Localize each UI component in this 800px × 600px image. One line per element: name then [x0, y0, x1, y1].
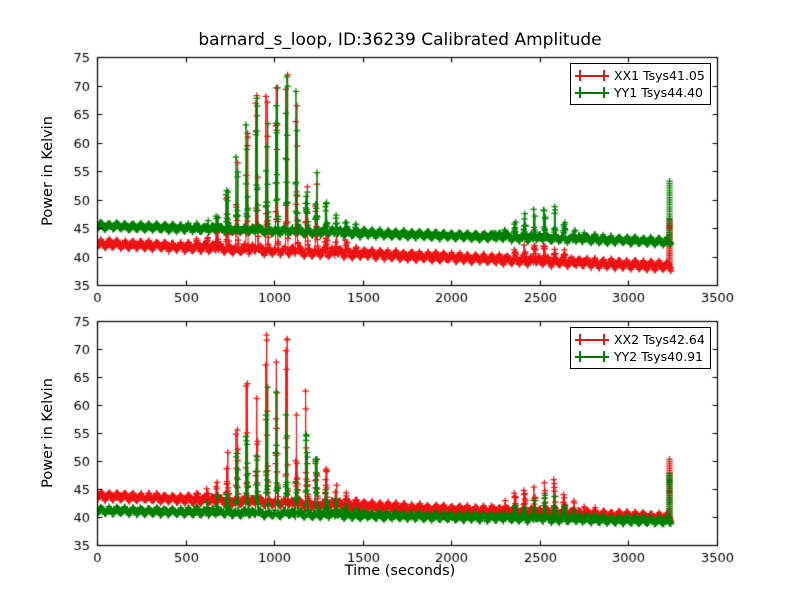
- top-panel-legend[interactable]: XX1 Tsys41.05 YY1 Tsys44.40: [570, 63, 711, 105]
- legend-item-xx1[interactable]: XX1 Tsys41.05: [575, 67, 705, 84]
- page-title: barnard_s_loop, ID:36239 Calibrated Ampl…: [0, 30, 800, 50]
- legend-item-yy2[interactable]: YY2 Tsys40.91: [575, 348, 705, 365]
- legend-item-yy1[interactable]: YY1 Tsys44.40: [575, 84, 705, 101]
- top-panel-ylabel: Power in Kelvin: [40, 116, 56, 226]
- legend-marker-xx1-plus-icon: [575, 69, 609, 82]
- legend-label-yy1: YY1 Tsys44.40: [614, 85, 703, 100]
- legend-label-xx1: XX1 Tsys41.05: [614, 68, 705, 83]
- legend-label-yy2: YY2 Tsys40.91: [614, 349, 703, 364]
- bottom-panel-xlabel: Time (seconds): [0, 563, 800, 579]
- legend-item-xx2[interactable]: XX2 Tsys42.64: [575, 331, 705, 348]
- legend-marker-xx2-plus-icon: [575, 333, 609, 346]
- figure-canvas-root: barnard_s_loop, ID:36239 Calibrated Ampl…: [0, 0, 800, 600]
- legend-marker-yy1-plus-icon: [575, 86, 609, 99]
- legend-label-xx2: XX2 Tsys42.64: [614, 332, 705, 347]
- bottom-panel-ylabel: Power in Kelvin: [40, 378, 56, 488]
- bottom-panel-legend[interactable]: XX2 Tsys42.64 YY2 Tsys40.91: [570, 327, 711, 369]
- legend-marker-yy2-plus-icon: [575, 350, 609, 363]
